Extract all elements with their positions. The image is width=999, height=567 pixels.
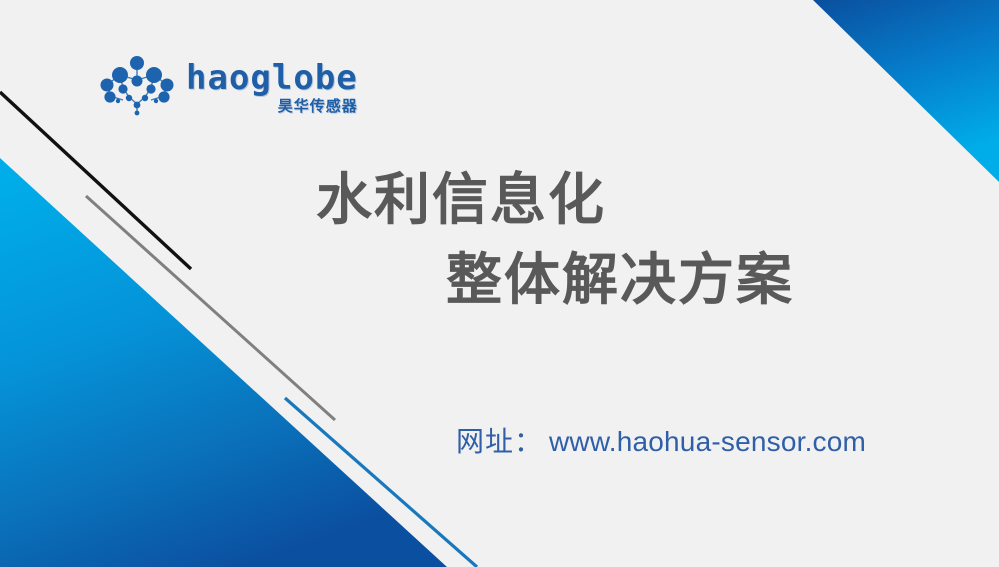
url-label: 网址： (456, 420, 543, 460)
url-value: www.haohua-sensor.com (549, 426, 866, 458)
gray-diagonal-line (86, 196, 335, 420)
top-right-accent-triangle (813, 0, 999, 182)
title-line-2: 整体解决方案 (316, 240, 916, 320)
title-line-1: 水利信息化 (316, 160, 916, 240)
logo-text-group: haoglobe 昊华传感器 (186, 61, 358, 114)
website-url: 网址： www.haohua-sensor.com (456, 420, 866, 460)
slide-title: 水利信息化 整体解决方案 (316, 160, 916, 319)
logo-wordmark: haoglobe (186, 61, 358, 95)
molecule-network-logo-icon (96, 54, 178, 120)
blue-diagonal-line (285, 398, 477, 567)
company-logo: haoglobe 昊华传感器 (96, 52, 358, 122)
presentation-slide: haoglobe 昊华传感器 水利信息化 整体解决方案 网址： www.haoh… (0, 0, 999, 567)
logo-subtext: 昊华传感器 (278, 99, 358, 114)
